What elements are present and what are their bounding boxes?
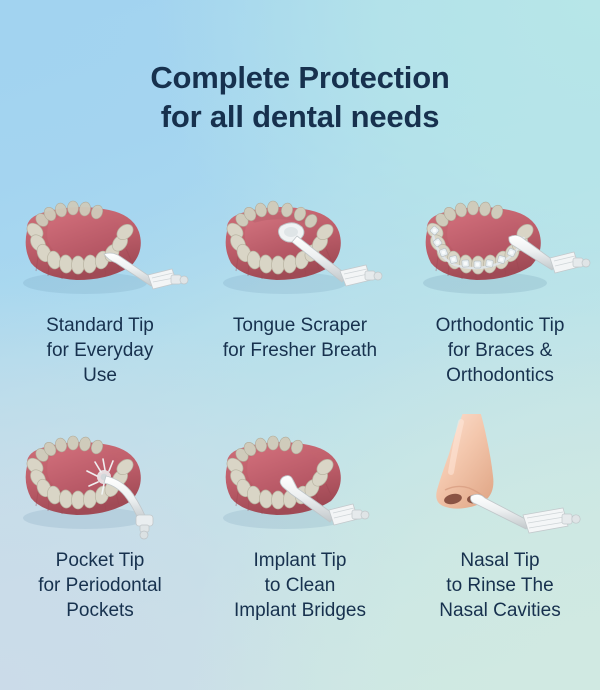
feature-caption-line-1: Nasal Tip xyxy=(402,548,598,573)
feature-item-orthodontic-tip: Orthodontic Tip for Braces & Orthodontic… xyxy=(400,175,600,410)
feature-caption-line-3: Use xyxy=(2,363,198,388)
feature-caption-line-1: Standard Tip xyxy=(2,313,198,338)
feature-item-implant-tip: Implant Tip to Clean Implant Bridges xyxy=(200,410,400,645)
dental-model-standard-tip-icon xyxy=(5,179,195,309)
feature-caption-line-3: Nasal Cavities xyxy=(402,598,598,623)
dental-model-implant-tip-icon xyxy=(205,414,395,544)
feature-caption-nasal-tip: Nasal Tip to Rinse The Nasal Cavities xyxy=(402,548,598,623)
dental-model-pocket-tip-icon xyxy=(5,414,195,544)
feature-caption-line-3: Pockets xyxy=(2,598,198,623)
page-title: Complete Protection for all dental needs xyxy=(0,58,600,136)
feature-caption-standard-tip: Standard Tip for Everyday Use xyxy=(2,313,198,388)
nose-model-nasal-tip-icon xyxy=(405,414,595,544)
feature-caption-tongue-scraper: Tongue Scraper for Fresher Breath xyxy=(202,313,398,363)
feature-grid: Standard Tip for Everyday Use xyxy=(0,175,600,645)
feature-caption-line-2: for Braces & xyxy=(402,338,598,363)
infographic-page: Complete Protection for all dental needs xyxy=(0,0,600,690)
feature-caption-line-2: for Periodontal xyxy=(2,573,198,598)
feature-item-standard-tip: Standard Tip for Everyday Use xyxy=(0,175,200,410)
feature-caption-line-2: for Fresher Breath xyxy=(202,338,398,363)
feature-caption-line-2: for Everyday xyxy=(2,338,198,363)
feature-caption-line-3: Implant Bridges xyxy=(202,598,398,623)
feature-caption-pocket-tip: Pocket Tip for Periodontal Pockets xyxy=(2,548,198,623)
feature-caption-line-1: Orthodontic Tip xyxy=(402,313,598,338)
page-title-line-2: for all dental needs xyxy=(0,97,600,136)
feature-caption-line-1: Tongue Scraper xyxy=(202,313,398,338)
feature-caption-line-2: to Clean xyxy=(202,573,398,598)
feature-caption-line-3: Orthodontics xyxy=(402,363,598,388)
page-title-line-1: Complete Protection xyxy=(0,58,600,97)
feature-caption-line-1: Implant Tip xyxy=(202,548,398,573)
feature-caption-orthodontic-tip: Orthodontic Tip for Braces & Orthodontic… xyxy=(402,313,598,388)
feature-caption-line-1: Pocket Tip xyxy=(2,548,198,573)
feature-caption-implant-tip: Implant Tip to Clean Implant Bridges xyxy=(202,548,398,623)
feature-caption-line-2: to Rinse The xyxy=(402,573,598,598)
feature-item-tongue-scraper: Tongue Scraper for Fresher Breath xyxy=(200,175,400,410)
dental-model-tongue-scraper-icon xyxy=(205,179,395,309)
feature-item-nasal-tip: Nasal Tip to Rinse The Nasal Cavities xyxy=(400,410,600,645)
dental-model-orthodontic-tip-icon xyxy=(405,179,595,309)
feature-item-pocket-tip: Pocket Tip for Periodontal Pockets xyxy=(0,410,200,645)
